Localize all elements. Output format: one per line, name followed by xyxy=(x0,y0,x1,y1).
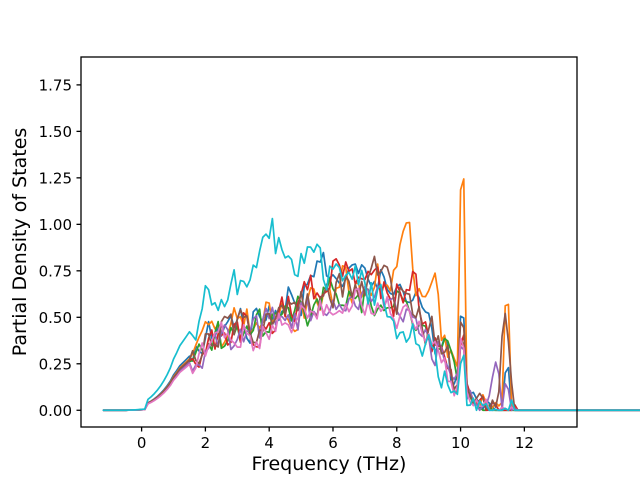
x-tick-label: 0 xyxy=(137,434,147,452)
x-tick-label: 4 xyxy=(264,434,274,452)
pdos-line-chart: 024681012 0.000.250.500.751.001.251.501.… xyxy=(0,0,640,480)
y-tick-label: 1.50 xyxy=(39,123,72,141)
figure-canvas: 024681012 0.000.250.500.751.001.251.501.… xyxy=(0,0,640,480)
y-tick-label: 0.00 xyxy=(39,402,72,420)
x-axis-ticks: 024681012 xyxy=(137,427,534,452)
y-tick-label: 0.50 xyxy=(39,309,72,327)
y-tick-label: 1.75 xyxy=(39,76,72,94)
y-tick-label: 0.75 xyxy=(39,262,72,280)
y-tick-label: 1.25 xyxy=(39,169,72,187)
x-axis-label: Frequency (THz) xyxy=(252,453,407,475)
x-tick-label: 2 xyxy=(201,434,211,452)
x-tick-label: 6 xyxy=(328,434,338,452)
x-tick-label: 10 xyxy=(451,434,470,452)
y-tick-label: 1.00 xyxy=(39,216,72,234)
x-tick-label: 12 xyxy=(515,434,534,452)
x-tick-label: 8 xyxy=(392,434,402,452)
y-tick-label: 0.25 xyxy=(39,355,72,373)
y-axis-ticks: 0.000.250.500.751.001.251.501.75 xyxy=(39,76,81,419)
y-axis-label: Partial Density of States xyxy=(9,128,31,357)
